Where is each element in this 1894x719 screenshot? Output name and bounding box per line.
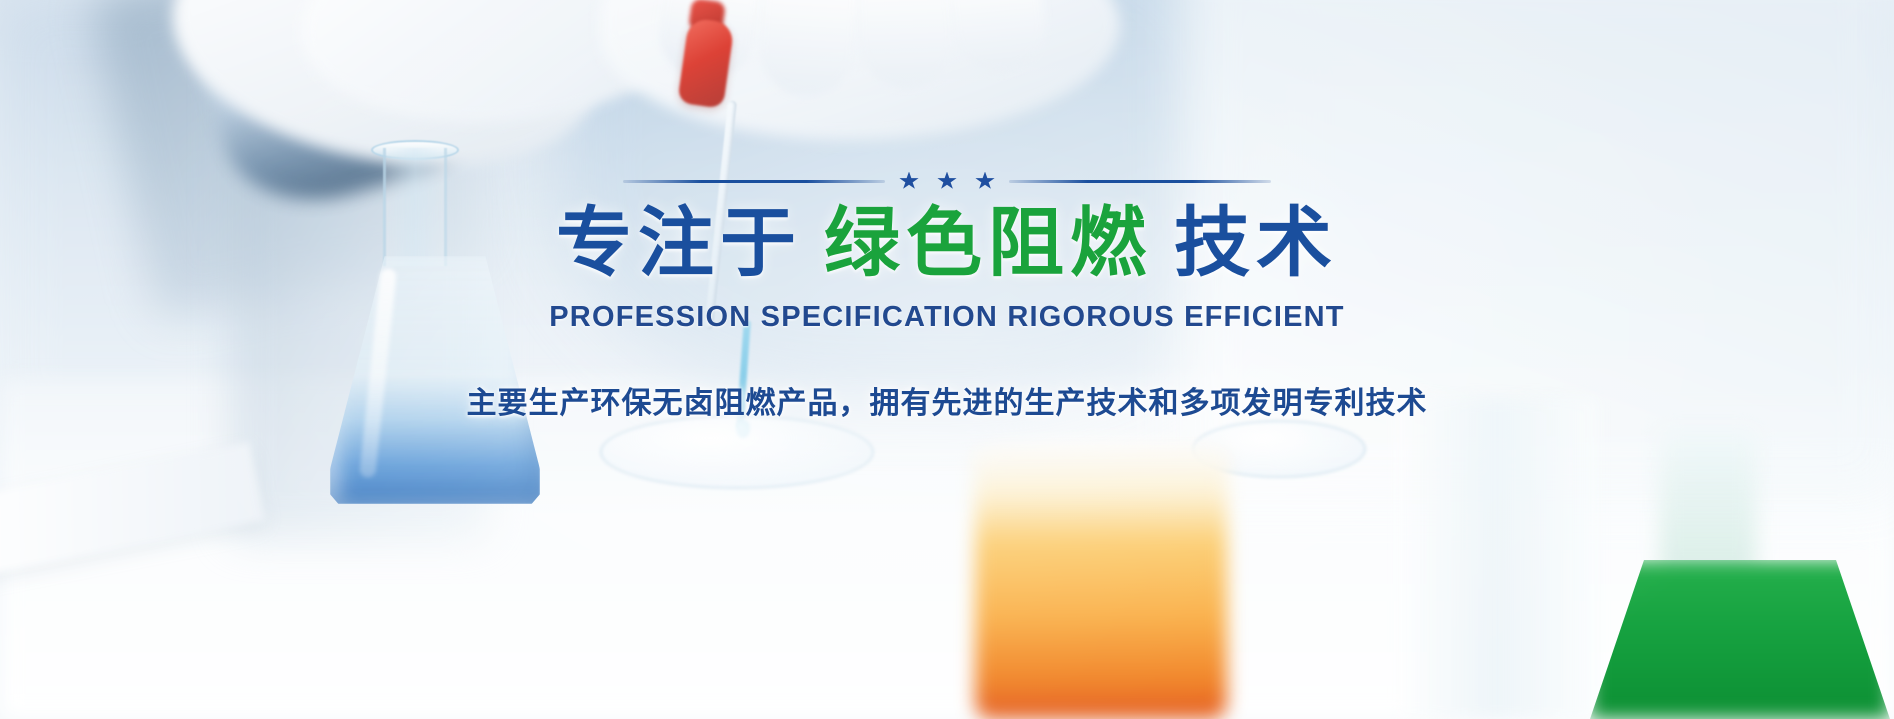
banner-content: 专注于绿色阻燃技术 PROFESSION SPECIFICATION RIGOR… (0, 0, 1894, 719)
star-icon (937, 172, 957, 191)
star-icon (975, 172, 995, 191)
description-chinese: 主要生产环保无卤阻燃产品，拥有先进的生产技术和多项发明专利技术 (467, 378, 1428, 422)
headline-part-3: 技术 (1174, 201, 1338, 286)
divider-rule-right (1009, 180, 1271, 183)
divider-rule-left (623, 180, 885, 183)
headline-part-1: 专注于 (556, 201, 802, 286)
star-icon (899, 172, 919, 191)
hero-banner: 专注于绿色阻燃技术 PROFESSION SPECIFICATION RIGOR… (0, 0, 1894, 719)
headline-part-2: 绿色阻燃 (824, 201, 1152, 286)
star-group (899, 172, 995, 191)
subtitle-english: PROFESSION SPECIFICATION RIGOROUS EFFICI… (549, 301, 1344, 334)
page-title: 专注于绿色阻燃技术 (556, 204, 1338, 285)
decorative-divider (623, 170, 1271, 192)
